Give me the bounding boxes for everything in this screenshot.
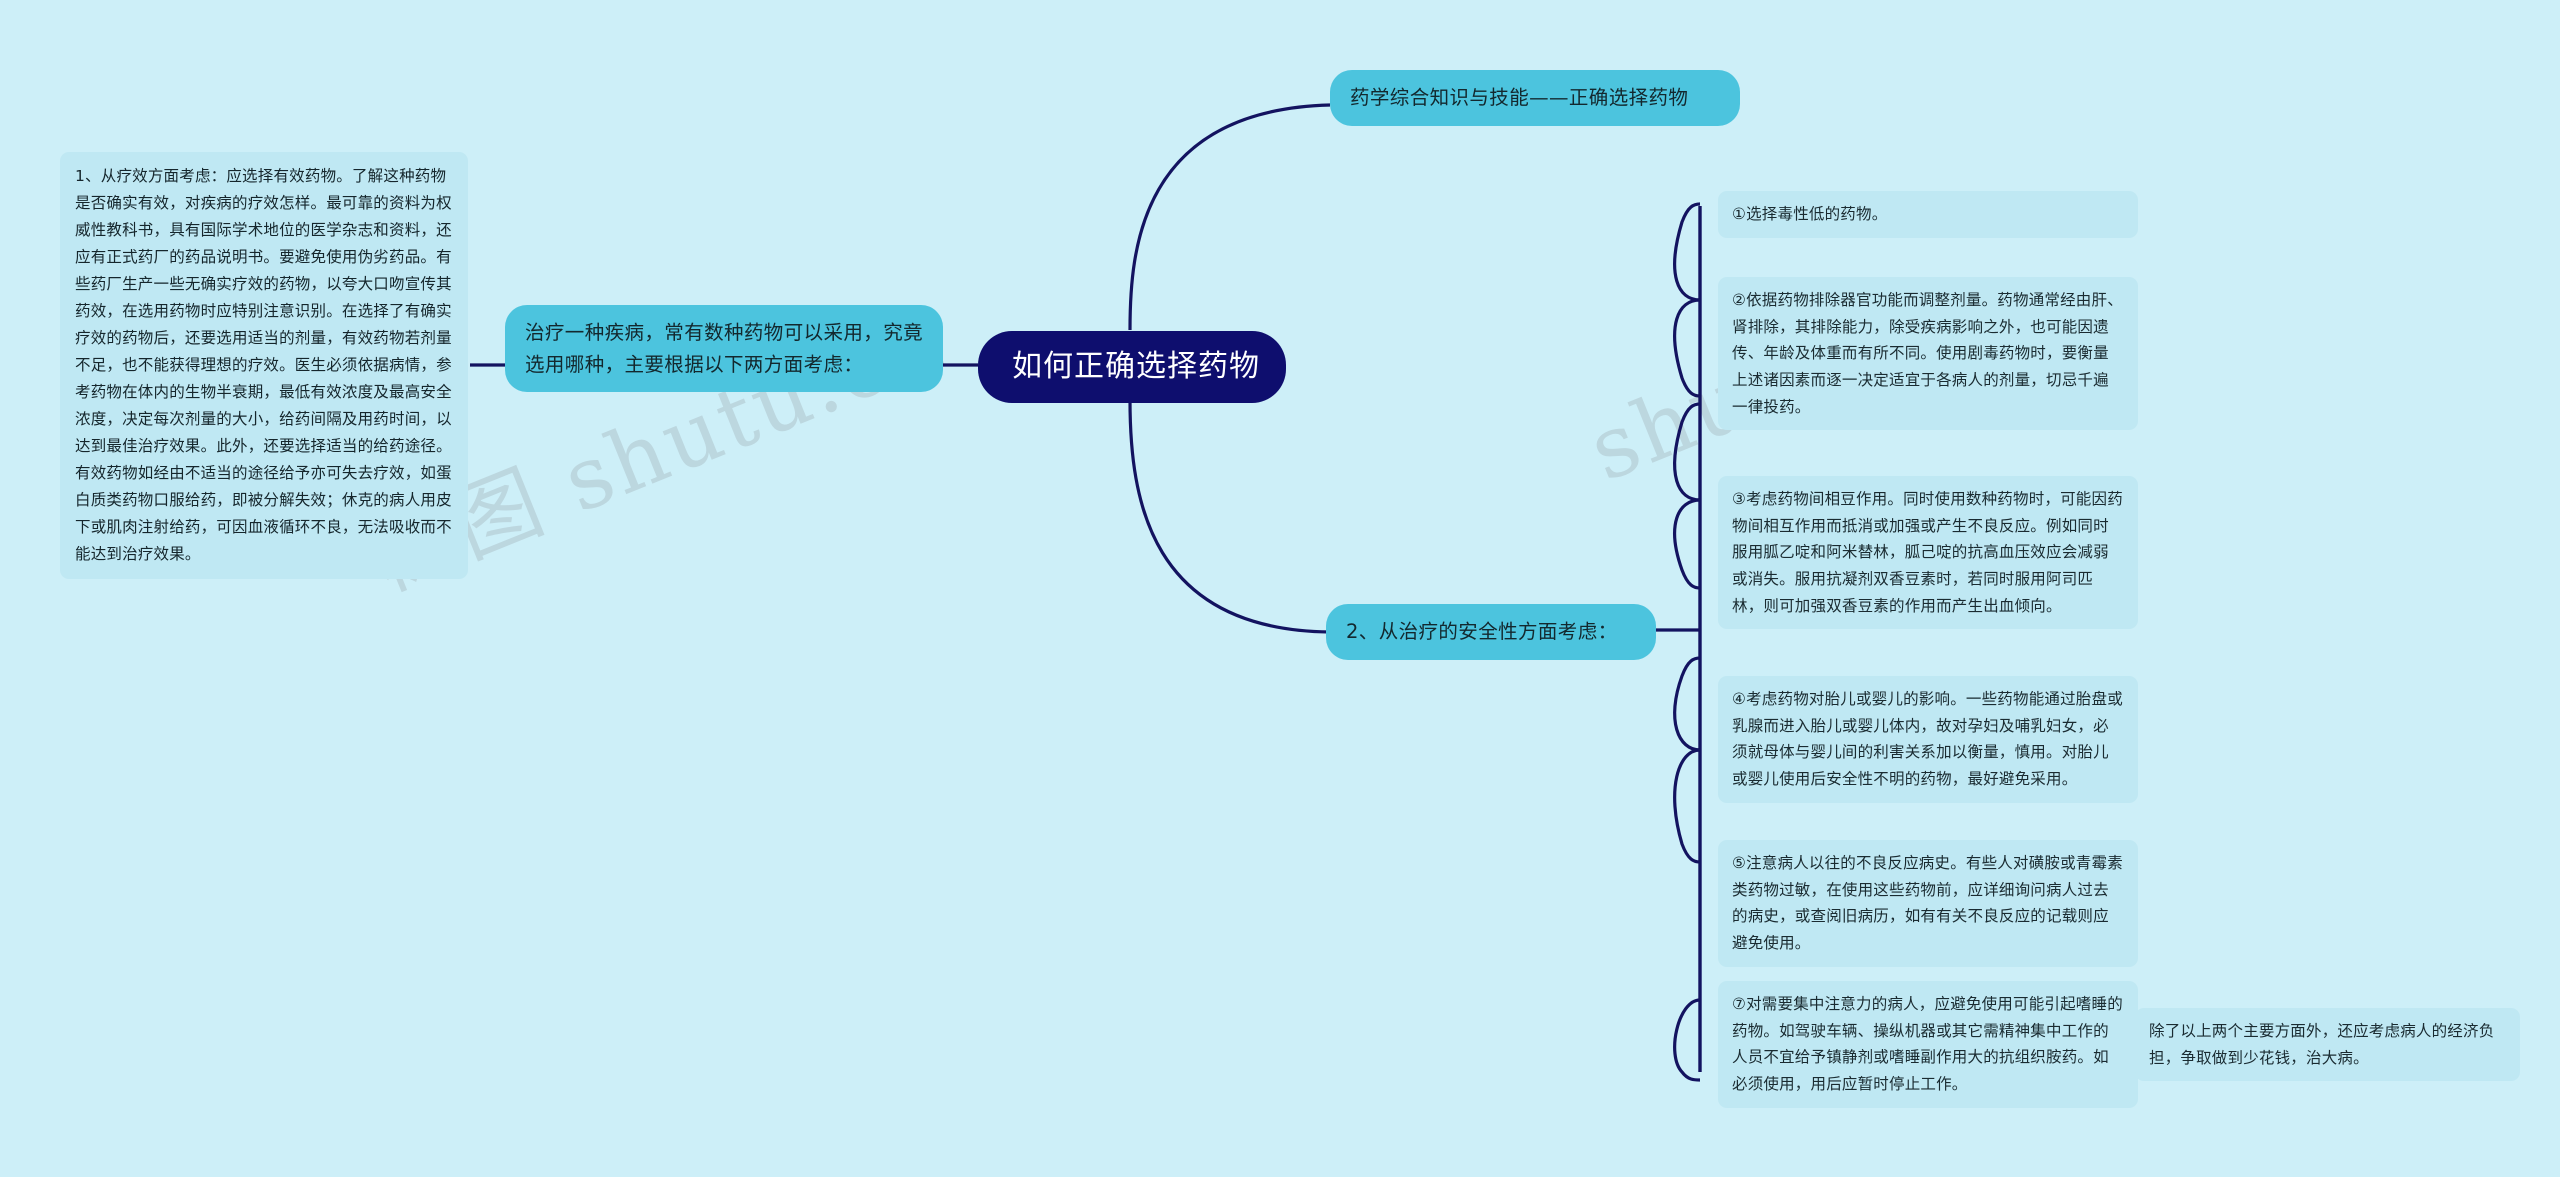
link-leaf-4: [1675, 658, 1700, 750]
root-node[interactable]: 如何正确选择药物: [978, 331, 1286, 403]
leaf-safety-7[interactable]: ⑦对需要集中注意力的病人，应避免使用可能引起嗜睡的药物。如驾驶车辆、操纵机器或其…: [1718, 981, 2138, 1108]
link-root-top: [1130, 105, 1330, 330]
branch-safety-node[interactable]: 2、从治疗的安全性方面考虑：: [1326, 604, 1656, 660]
branch-top-node[interactable]: 药学综合知识与技能——正确选择药物: [1330, 70, 1740, 126]
link-leaf-2: [1675, 300, 1700, 396]
link-leaf-7: [1675, 1000, 1700, 1080]
mindmap-canvas: 树图 shutu.cn shutu.cn 如何正确选择药物 药学综合知识与技能—…: [0, 0, 2560, 1177]
link-leaf-2b: [1675, 404, 1700, 500]
leaf-efficacy-node[interactable]: 1、从疗效方面考虑：应选择有效药物。了解这种药物是否确实有效，对疾病的疗效怎样。…: [60, 152, 468, 579]
leaf-safety-1[interactable]: ①选择毒性低的药物。: [1718, 191, 2138, 238]
leaf-safety-3[interactable]: ③考虑药物间相豆作用。同时使用数种药物时，可能因药物间相互作用而抵消或加强或产生…: [1718, 476, 2138, 629]
leaf-safety-4[interactable]: ④考虑药物对胎儿或婴儿的影响。一些药物能通过胎盘或乳腺而进入胎儿或婴儿体内，故对…: [1718, 676, 2138, 803]
link-root-safety: [1130, 400, 1330, 632]
leaf-safety-2[interactable]: ②依据药物排除器官功能而调整剂量。药物通常经由肝、肾排除，其排除能力，除受疾病影…: [1718, 277, 2138, 430]
link-leaf-3: [1675, 500, 1700, 588]
leaf-economic-node[interactable]: 除了以上两个主要方面外，还应考虑病人的经济负担，争取做到少花钱，治大病。: [2135, 1008, 2520, 1081]
link-leaf-5: [1675, 750, 1700, 862]
branch-left-node[interactable]: 治疗一种疾病，常有数种药物可以采用，究竟选用哪种，主要根据以下两方面考虑：: [505, 305, 943, 392]
leaf-safety-5[interactable]: ⑤注意病人以往的不良反应病史。有些人对磺胺或青霉素类药物过敏，在使用这些药物前，…: [1718, 840, 2138, 967]
link-leaf-1: [1675, 204, 1700, 300]
